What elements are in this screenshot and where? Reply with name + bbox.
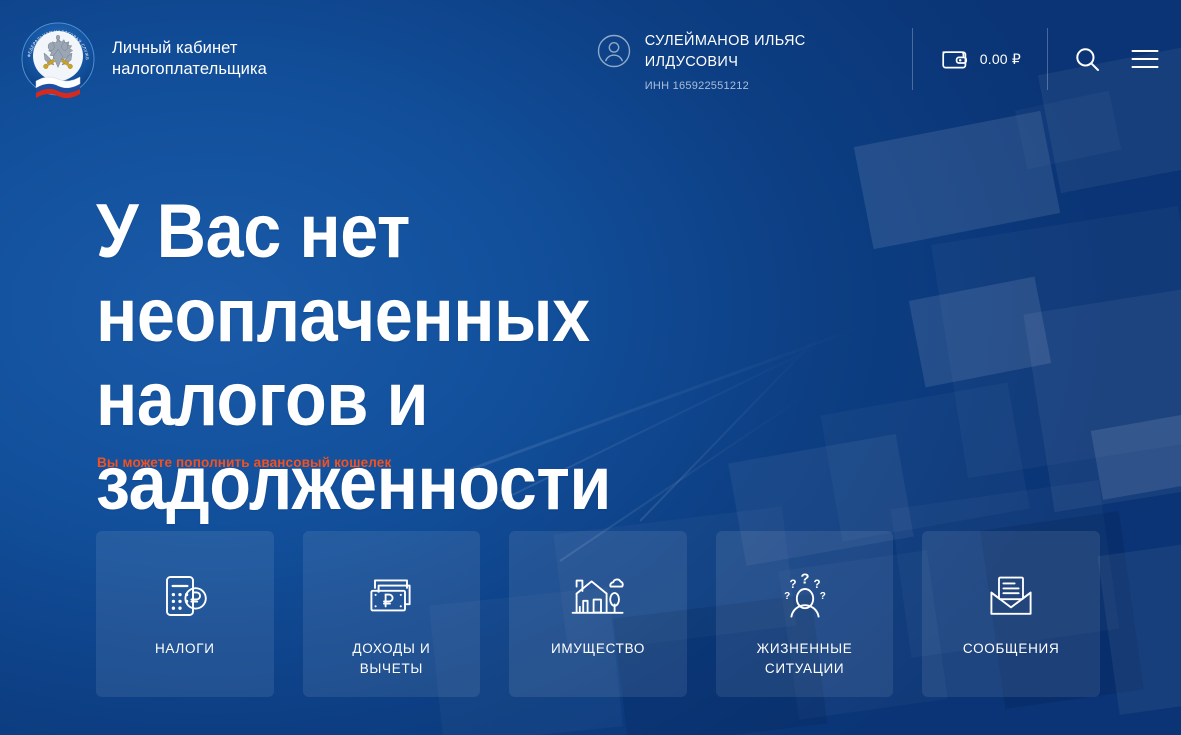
tile-property[interactable]: ИМУЩЕСТВО — [509, 531, 687, 697]
page-title: У Вас нет неоплаченных налогов и задолже… — [96, 190, 870, 526]
tile-income-deductions[interactable]: ДОХОДЫ И ВЫЧЕТЫ — [303, 531, 481, 697]
taxpayer-personal-account-page: ФЕДЕРАЛЬНАЯ НАЛОГОВАЯ СЛУЖБА — [0, 0, 1181, 735]
quick-nav-tiles: НАЛОГИ ДОХОДЫ И ВЫЧЕТЫ — [96, 531, 1100, 697]
tile-label: ИМУЩЕСТВО — [551, 639, 645, 659]
tile-label: НАЛОГИ — [155, 639, 215, 659]
site-header: ФЕДЕРАЛЬНАЯ НАЛОГОВАЯ СЛУЖБА — [0, 0, 1181, 118]
hero-block: У Вас нет неоплаченных налогов и задолже… — [96, 190, 956, 526]
user-avatar-icon — [597, 34, 631, 68]
envelope-message-icon — [983, 567, 1039, 625]
svg-text:?: ? — [819, 591, 825, 602]
brand-logo-block[interactable]: ФЕДЕРАЛЬНАЯ НАЛОГОВАЯ СЛУЖБА — [18, 19, 267, 99]
wallet-icon — [941, 47, 969, 71]
svg-text:?: ? — [800, 571, 809, 588]
svg-text:?: ? — [789, 579, 796, 591]
tile-label: ЖИЗНЕННЫЕ СИТУАЦИИ — [757, 639, 853, 679]
advance-wallet-link[interactable]: Вы можете пополнить авансовый кошелек — [97, 455, 391, 470]
fns-emblem-icon: ФЕДЕРАЛЬНАЯ НАЛОГОВАЯ СЛУЖБА — [18, 19, 98, 99]
svg-text:?: ? — [813, 579, 820, 591]
calculator-ruble-icon — [157, 567, 213, 625]
tile-label: СООБЩЕНИЯ — [963, 639, 1059, 659]
tile-messages[interactable]: СООБЩЕНИЯ — [922, 531, 1100, 697]
hamburger-menu-icon[interactable] — [1131, 48, 1159, 70]
user-text: СУЛЕЙМАНОВ ИЛЬЯС ИЛДУСОВИЧ ИНН 165922551… — [645, 31, 860, 94]
search-icon[interactable] — [1074, 46, 1101, 73]
person-questions-icon: ? ? ? ? ? — [776, 567, 834, 625]
banknotes-ruble-icon — [363, 567, 419, 625]
svg-text:?: ? — [784, 591, 790, 602]
header-right-tools: СУЛЕЙМАНОВ ИЛЬЯС ИЛДУСОВИЧ ИНН 165922551… — [597, 0, 1181, 118]
advance-wallet-button[interactable]: 0.00 ₽ — [941, 47, 1021, 71]
header-divider-2 — [1047, 28, 1048, 90]
user-name: СУЛЕЙМАНОВ ИЛЬЯС ИЛДУСОВИЧ — [645, 31, 860, 73]
user-inn: ИНН 165922551212 — [645, 78, 860, 94]
header-divider-1 — [912, 28, 913, 90]
tile-taxes[interactable]: НАЛОГИ — [96, 531, 274, 697]
user-profile-block[interactable]: СУЛЕЙМАНОВ ИЛЬЯС ИЛДУСОВИЧ ИНН 165922551… — [597, 25, 860, 94]
brand-title: Личный кабинет налогоплательщика — [112, 38, 267, 80]
wallet-amount: 0.00 ₽ — [980, 51, 1021, 68]
tile-life-situations[interactable]: ? ? ? ? ? ЖИЗНЕННЫЕ СИТУАЦИИ — [716, 531, 894, 697]
house-property-icon — [569, 567, 627, 625]
tile-label: ДОХОДЫ И ВЫЧЕТЫ — [352, 639, 430, 679]
